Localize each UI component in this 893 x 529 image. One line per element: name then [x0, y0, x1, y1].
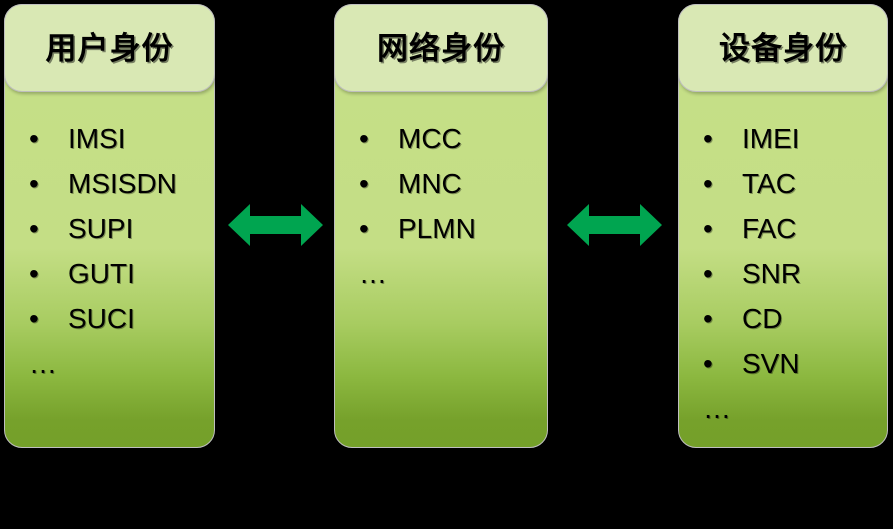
list-item[interactable]: • MSISDN	[22, 161, 205, 206]
list-item[interactable]: • PLMN	[352, 206, 538, 251]
list-item[interactable]: • CD	[696, 296, 878, 341]
bullet-icon: •	[22, 116, 68, 161]
bullet-icon: •	[696, 251, 742, 296]
panel-item-list: • MCC • MNC • PLMN …	[334, 92, 548, 448]
double-arrow-horizontal-icon	[567, 202, 662, 248]
list-more-indicator: …	[696, 386, 878, 431]
bullet-icon: •	[696, 116, 742, 161]
panel-title: 网络身份	[377, 33, 505, 64]
list-item[interactable]: • MCC	[352, 116, 538, 161]
bullet-icon: •	[352, 116, 398, 161]
list-item[interactable]: • SUPI	[22, 206, 205, 251]
list-item[interactable]: • TAC	[696, 161, 878, 206]
panel-title: 用户身份	[46, 33, 174, 64]
panel-item-list: • IMSI • MSISDN • SUPI • GUTI • SUCI …	[4, 92, 215, 448]
list-more-indicator: …	[352, 251, 538, 296]
bullet-icon: •	[696, 296, 742, 341]
bullet-icon: •	[22, 161, 68, 206]
bullet-icon: •	[696, 206, 742, 251]
bullet-icon: •	[696, 161, 742, 206]
bullet-icon: •	[22, 206, 68, 251]
list-item-label: CD	[742, 296, 878, 341]
list-item[interactable]: • FAC	[696, 206, 878, 251]
list-item-label: IMSI	[68, 116, 205, 161]
diagram-canvas: 用户身份 • IMSI • MSISDN • SUPI • GUTI • SUC…	[0, 0, 893, 529]
double-arrow-horizontal-icon	[228, 202, 323, 248]
list-item-label: GUTI	[68, 251, 205, 296]
bullet-icon: •	[696, 341, 742, 386]
list-item[interactable]: • IMSI	[22, 116, 205, 161]
panel-title: 设备身份	[719, 33, 847, 64]
bullet-icon: •	[352, 206, 398, 251]
list-item[interactable]: • SNR	[696, 251, 878, 296]
panel-header: 用户身份	[4, 4, 215, 92]
list-item[interactable]: • SVN	[696, 341, 878, 386]
list-more-indicator: …	[22, 341, 205, 386]
panel-header: 网络身份	[334, 4, 548, 92]
panel-user-identity[interactable]: 用户身份 • IMSI • MSISDN • SUPI • GUTI • SUC…	[4, 4, 215, 448]
bullet-icon: •	[352, 161, 398, 206]
list-item-label: MSISDN	[68, 161, 205, 206]
connector-2[interactable]	[567, 202, 662, 248]
panel-network-identity[interactable]: 网络身份 • MCC • MNC • PLMN …	[334, 4, 548, 448]
list-item-label: PLMN	[398, 206, 538, 251]
list-item[interactable]: • IMEI	[696, 116, 878, 161]
list-item-label: MNC	[398, 161, 538, 206]
connector-1[interactable]	[228, 202, 323, 248]
panel-header: 设备身份	[678, 4, 888, 92]
panel-item-list: • IMEI • TAC • FAC • SNR • CD • SVN	[678, 92, 888, 448]
list-item-label: SVN	[742, 341, 878, 386]
list-item-label: SNR	[742, 251, 878, 296]
list-item-label: SUCI	[68, 296, 205, 341]
bullet-icon: •	[22, 251, 68, 296]
list-item-label: SUPI	[68, 206, 205, 251]
list-item[interactable]: • SUCI	[22, 296, 205, 341]
bullet-icon: •	[22, 296, 68, 341]
list-item[interactable]: • MNC	[352, 161, 538, 206]
list-item-label: TAC	[742, 161, 878, 206]
list-item-label: MCC	[398, 116, 538, 161]
list-item-label: IMEI	[742, 116, 878, 161]
list-item-label: FAC	[742, 206, 878, 251]
list-item[interactable]: • GUTI	[22, 251, 205, 296]
panel-device-identity[interactable]: 设备身份 • IMEI • TAC • FAC • SNR • CD	[678, 4, 888, 448]
